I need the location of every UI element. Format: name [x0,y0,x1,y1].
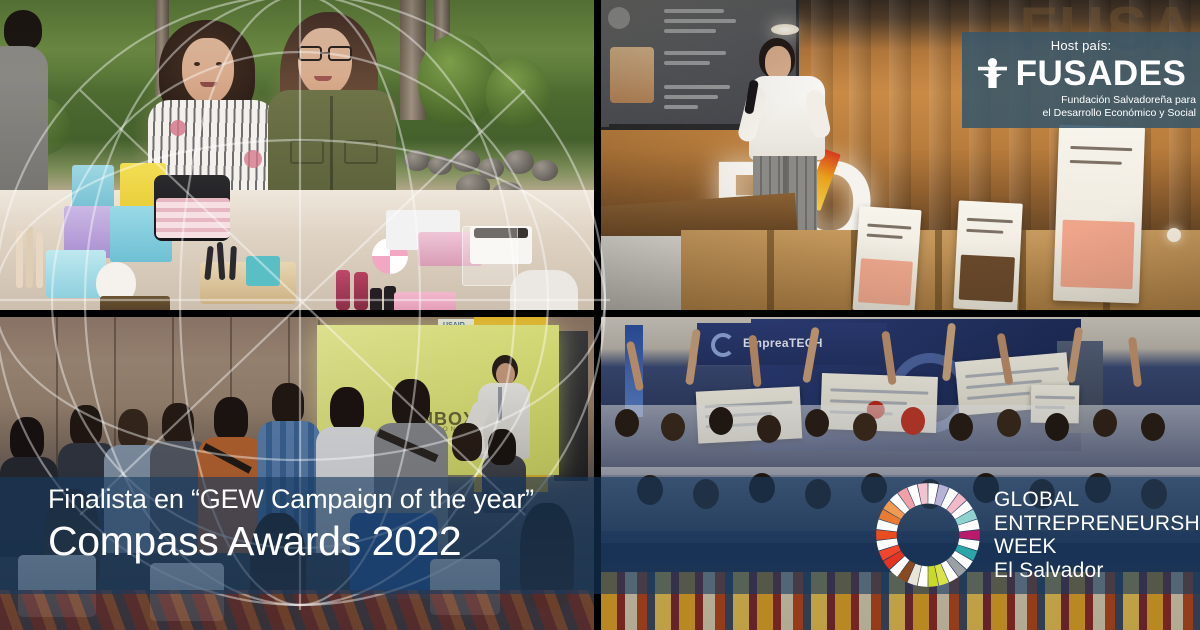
gew-color-wheel-icon [874,481,982,589]
speaker-stack [554,331,588,481]
ceiling-light [771,24,799,35]
chair-back [510,270,578,310]
gew-line-global: GLOBAL [994,488,1200,512]
award-title-block: Finalista en “GEW Campaign of the year” … [48,482,608,566]
gew-wheel-segment [959,530,980,540]
small-light [1167,228,1181,242]
lipstick [354,272,368,310]
shrub [418,34,496,126]
lipstick [336,270,350,310]
patterned-carpet [0,590,594,630]
award-title: Compass Awards 2022 [48,516,608,566]
fusades-wordmark: FUSADES [1016,57,1187,90]
brush [16,230,23,288]
striped-pouch [156,198,230,238]
brush [36,232,43,288]
fusades-tagline-2: el Desarrollo Económico y Social [962,107,1196,120]
gew-line-week: WEEK [994,535,1200,559]
stone [452,150,480,172]
chocolate-bar-large [1053,125,1145,304]
gew-el-salvador-logo: GLOBAL ENTREPRENEURSHIP WEEK El Salvador [874,478,1194,592]
stone [404,150,430,171]
brush [26,226,33,288]
gew-wordmark: GLOBAL ENTREPRENEURSHIP WEEK El Salvador [994,488,1200,582]
wooden-tray [100,296,170,310]
empreatech-banner: EmpreaTECH [697,323,887,365]
fusades-host-banner: Host país: FUSADES Fundación Salvadoreña… [962,32,1200,128]
stone [532,160,558,181]
shrub [486,58,550,128]
product-box [394,292,456,310]
display-case [462,226,518,286]
empreatech-icon [711,333,735,357]
collage-canvas: FUSA EO [0,0,1200,630]
chocolate-bar [852,206,921,310]
chocolate-bar [953,200,1023,310]
award-subtitle: Finalista en “GEW Campaign of the year” [48,482,608,516]
fusades-tagline-1: Fundación Salvadoreña para [962,94,1196,107]
product-box [246,256,280,286]
mascara [370,288,382,310]
stone [504,150,534,174]
photo-craft-fair-entrepreneurs [0,0,594,310]
gew-wheel-segment [876,530,897,540]
stone [428,156,452,175]
photo-tl-background [0,0,594,310]
host-label: Host país: [962,38,1200,53]
gew-line-entrepreneurship: ENTREPRENEURSHIP [994,512,1200,536]
fusades-figure-icon [976,57,1009,90]
gew-line-country: El Salvador [994,559,1200,583]
